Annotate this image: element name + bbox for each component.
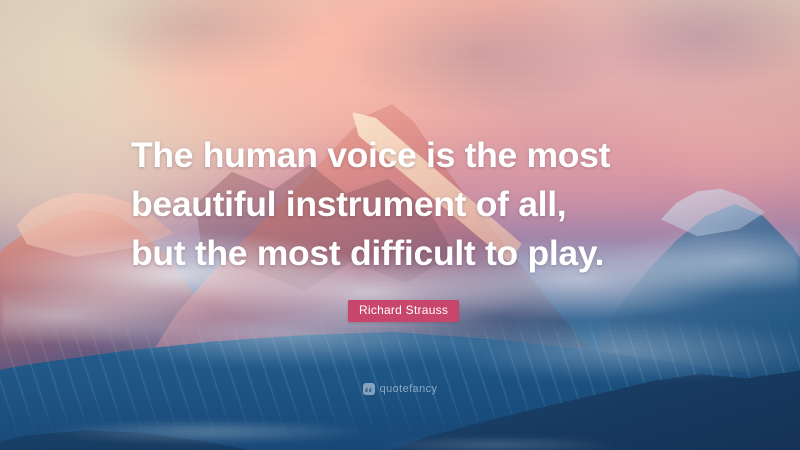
- watermark: quotefancy: [0, 383, 800, 395]
- quote-text: The human voice is the most beautiful in…: [131, 131, 691, 278]
- quote-mark-icon: [363, 383, 375, 395]
- poster-content: The human voice is the most beautiful in…: [0, 0, 800, 450]
- quote-poster: The human voice is the most beautiful in…: [0, 0, 800, 450]
- author-badge: Richard Strauss: [348, 300, 459, 322]
- watermark-label: quotefancy: [380, 383, 438, 395]
